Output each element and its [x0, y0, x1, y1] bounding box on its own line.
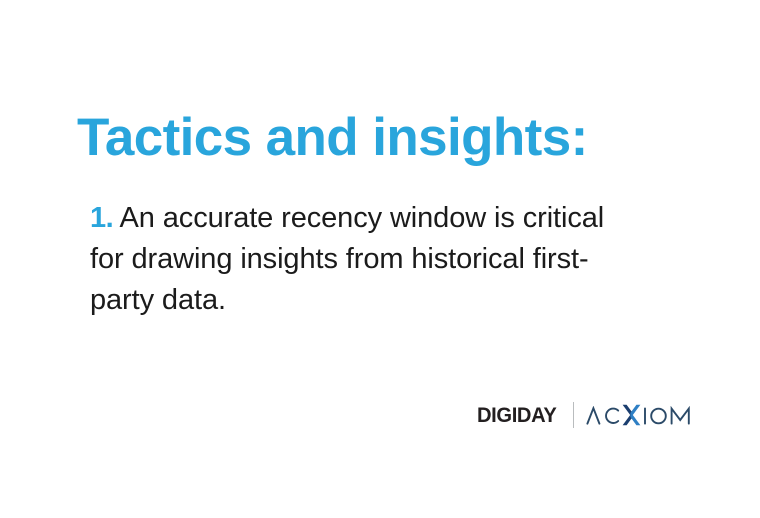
page-title: Tactics and insights:	[77, 110, 588, 166]
slide-canvas: Tactics and insights: 1. An accurate rec…	[0, 0, 760, 518]
acxiom-letter-m-icon	[670, 406, 691, 425]
acxiom-letter-o-icon	[649, 406, 668, 425]
digiday-wordmark: DIGIDAY	[477, 405, 556, 426]
acxiom-letters-left	[586, 406, 621, 425]
logo-lockup: DIGIDAY	[477, 399, 691, 431]
list-item-text: An accurate recency window is critical f…	[90, 202, 604, 316]
logo-divider	[573, 402, 574, 428]
acxiom-logo	[586, 402, 691, 428]
acxiom-letters-right	[642, 406, 691, 425]
acxiom-letter-i-icon	[642, 406, 648, 425]
acxiom-letter-a-icon	[586, 406, 601, 425]
acxiom-x-mark-icon	[622, 404, 641, 426]
list-item-number: 1.	[90, 202, 113, 234]
acxiom-letter-c-icon	[604, 406, 621, 425]
body-content: 1. An accurate recency window is critica…	[90, 198, 620, 321]
numbered-list-item: 1. An accurate recency window is critica…	[90, 198, 620, 321]
